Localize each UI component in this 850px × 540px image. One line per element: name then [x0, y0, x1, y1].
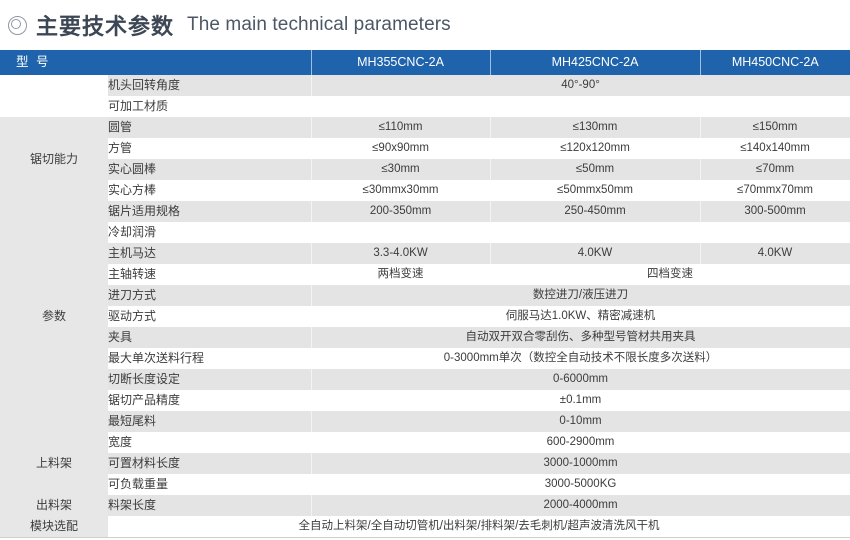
row-value: 0-3000mm单次（数控全自动技术不限长度多次送料）: [311, 348, 850, 369]
table-row: 实心方棒≤30mmx30mm≤50mmx50mm≤70mmx70mm: [0, 180, 850, 201]
row-value: 3.3-4.0KW: [311, 243, 490, 264]
table-row: 实心圆棒≤30mm≤50mm≤70mm: [0, 159, 850, 180]
row-value: 200-350mm: [311, 201, 490, 222]
header-model-label: 型 号: [0, 50, 311, 75]
row-value: ≤50mmx50mm: [490, 180, 700, 201]
row-sub-label: 冷却润滑: [108, 222, 311, 243]
row-group-label: 上料架: [0, 432, 108, 495]
spec-table-wrapper: 型 号 MH355CNC-2A MH425CNC-2A MH450CNC-2A …: [0, 50, 850, 538]
table-row: 锯切产品精度±0.1mm: [0, 390, 850, 411]
header-model-3: MH450CNC-2A: [700, 50, 850, 75]
row-value: 四档变速: [490, 264, 850, 285]
row-value: 两档变速: [311, 264, 490, 285]
table-row: 方管≤90x90mm≤120x120mm≤140x140mm: [0, 138, 850, 159]
double-ring-icon: [8, 16, 27, 35]
row-sub-label: 可置材料长度: [108, 453, 311, 474]
table-row: 冷却润滑: [0, 222, 850, 243]
table-row: 出料架料架长度2000-4000mm: [0, 495, 850, 516]
row-value: 3000-1000mm: [311, 453, 850, 474]
page-title-cn: 主要技术参数: [36, 9, 174, 41]
row-sub-label: 机头回转角度: [108, 75, 311, 96]
row-group-label: 模块选配: [0, 516, 108, 537]
table-row: 最大单次送料行程0-3000mm单次（数控全自动技术不限长度多次送料）: [0, 348, 850, 369]
table-row: 可负载重量3000-5000KG: [0, 474, 850, 495]
header-model-1: MH355CNC-2A: [311, 50, 490, 75]
row-sub-label: 圆管: [108, 117, 311, 138]
row-value: ≤150mm: [700, 117, 850, 138]
table-body: 机头回转角度40°-90°可加工材质锯切能力圆管≤110mm≤130mm≤150…: [0, 75, 850, 537]
header-model-2: MH425CNC-2A: [490, 50, 700, 75]
page-header: 主要技术参数 The main technical parameters: [0, 0, 850, 50]
row-value: ≤30mm: [311, 159, 490, 180]
row-group-empty: [0, 96, 108, 117]
row-sub-label: 实心圆棒: [108, 159, 311, 180]
row-value: 数控进刀/液压进刀: [311, 285, 850, 306]
table-row: 模块选配全自动上料架/全自动切管机/出料架/排料架/去毛刺机/超声波清洗风干机: [0, 516, 850, 537]
table-row: 夹具自动双开双合零刮伤、多种型号管材共用夹具: [0, 327, 850, 348]
row-sub-label: 进刀方式: [108, 285, 311, 306]
row-value: [311, 96, 850, 117]
row-value: ≤30mmx30mm: [311, 180, 490, 201]
row-value: 全自动上料架/全自动切管机/出料架/排料架/去毛刺机/超声波清洗风干机: [108, 516, 850, 537]
row-sub-label: 驱动方式: [108, 306, 311, 327]
row-value: 伺服马达1.0KW、精密减速机: [311, 306, 850, 327]
row-value: 4.0KW: [700, 243, 850, 264]
row-value: ≤130mm: [490, 117, 700, 138]
row-value: 600-2900mm: [311, 432, 850, 453]
row-value: ≤70mmx70mm: [700, 180, 850, 201]
row-group-empty: [0, 75, 108, 96]
row-sub-label: 夹具: [108, 327, 311, 348]
row-value: ≤70mm: [700, 159, 850, 180]
row-value: ≤120x120mm: [490, 138, 700, 159]
row-value: 250-450mm: [490, 201, 700, 222]
row-value: 40°-90°: [311, 75, 850, 96]
row-sub-label: 主轴转速: [108, 264, 311, 285]
table-row: 可加工材质: [0, 96, 850, 117]
row-value: 300-500mm: [700, 201, 850, 222]
row-sub-label: 实心方棒: [108, 180, 311, 201]
row-value: 0-6000mm: [311, 369, 850, 390]
table-row: 上料架宽度600-2900mm: [0, 432, 850, 453]
row-value: 0-10mm: [311, 411, 850, 432]
table-row: 进刀方式数控进刀/液压进刀: [0, 285, 850, 306]
table-row: 切断长度设定0-6000mm: [0, 369, 850, 390]
row-value: 2000-4000mm: [311, 495, 850, 516]
table-row: 驱动方式伺服马达1.0KW、精密减速机: [0, 306, 850, 327]
table-row: 主机马达3.3-4.0KW4.0KW4.0KW: [0, 243, 850, 264]
table-header-row: 型 号 MH355CNC-2A MH425CNC-2A MH450CNC-2A: [0, 50, 850, 75]
table-row: 最短尾料0-10mm: [0, 411, 850, 432]
row-sub-label: 锯片适用规格: [108, 201, 311, 222]
row-sub-label: 最短尾料: [108, 411, 311, 432]
row-sub-label: 最大单次送料行程: [108, 348, 311, 369]
table-row: 主轴转速两档变速四档变速: [0, 264, 850, 285]
row-sub-label: 切断长度设定: [108, 369, 311, 390]
row-value: ±0.1mm: [311, 390, 850, 411]
row-value: 自动双开双合零刮伤、多种型号管材共用夹具: [311, 327, 850, 348]
row-value: 4.0KW: [490, 243, 700, 264]
row-value: [311, 222, 850, 243]
table-row: 可置材料长度3000-1000mm: [0, 453, 850, 474]
row-value: ≤140x140mm: [700, 138, 850, 159]
row-sub-label: 锯切产品精度: [108, 390, 311, 411]
row-sub-label: 可负载重量: [108, 474, 311, 495]
row-value: ≤110mm: [311, 117, 490, 138]
spec-table: 型 号 MH355CNC-2A MH425CNC-2A MH450CNC-2A …: [0, 50, 850, 537]
page-title-en: The main technical parameters: [187, 14, 451, 36]
row-value: ≤90x90mm: [311, 138, 490, 159]
table-row: 参数锯片适用规格200-350mm250-450mm300-500mm: [0, 201, 850, 222]
table-row: 机头回转角度40°-90°: [0, 75, 850, 96]
row-sub-label: 可加工材质: [108, 96, 311, 117]
row-group-label: 参数: [0, 201, 108, 432]
row-sub-label: 主机马达: [108, 243, 311, 264]
table-row: 锯切能力圆管≤110mm≤130mm≤150mm: [0, 117, 850, 138]
row-value: 3000-5000KG: [311, 474, 850, 495]
row-group-label: 锯切能力: [0, 117, 108, 201]
row-sub-label: 方管: [108, 138, 311, 159]
row-sub-label: 宽度: [108, 432, 311, 453]
row-group-label: 出料架: [0, 495, 108, 516]
row-sub-label: 料架长度: [108, 495, 311, 516]
row-value: ≤50mm: [490, 159, 700, 180]
